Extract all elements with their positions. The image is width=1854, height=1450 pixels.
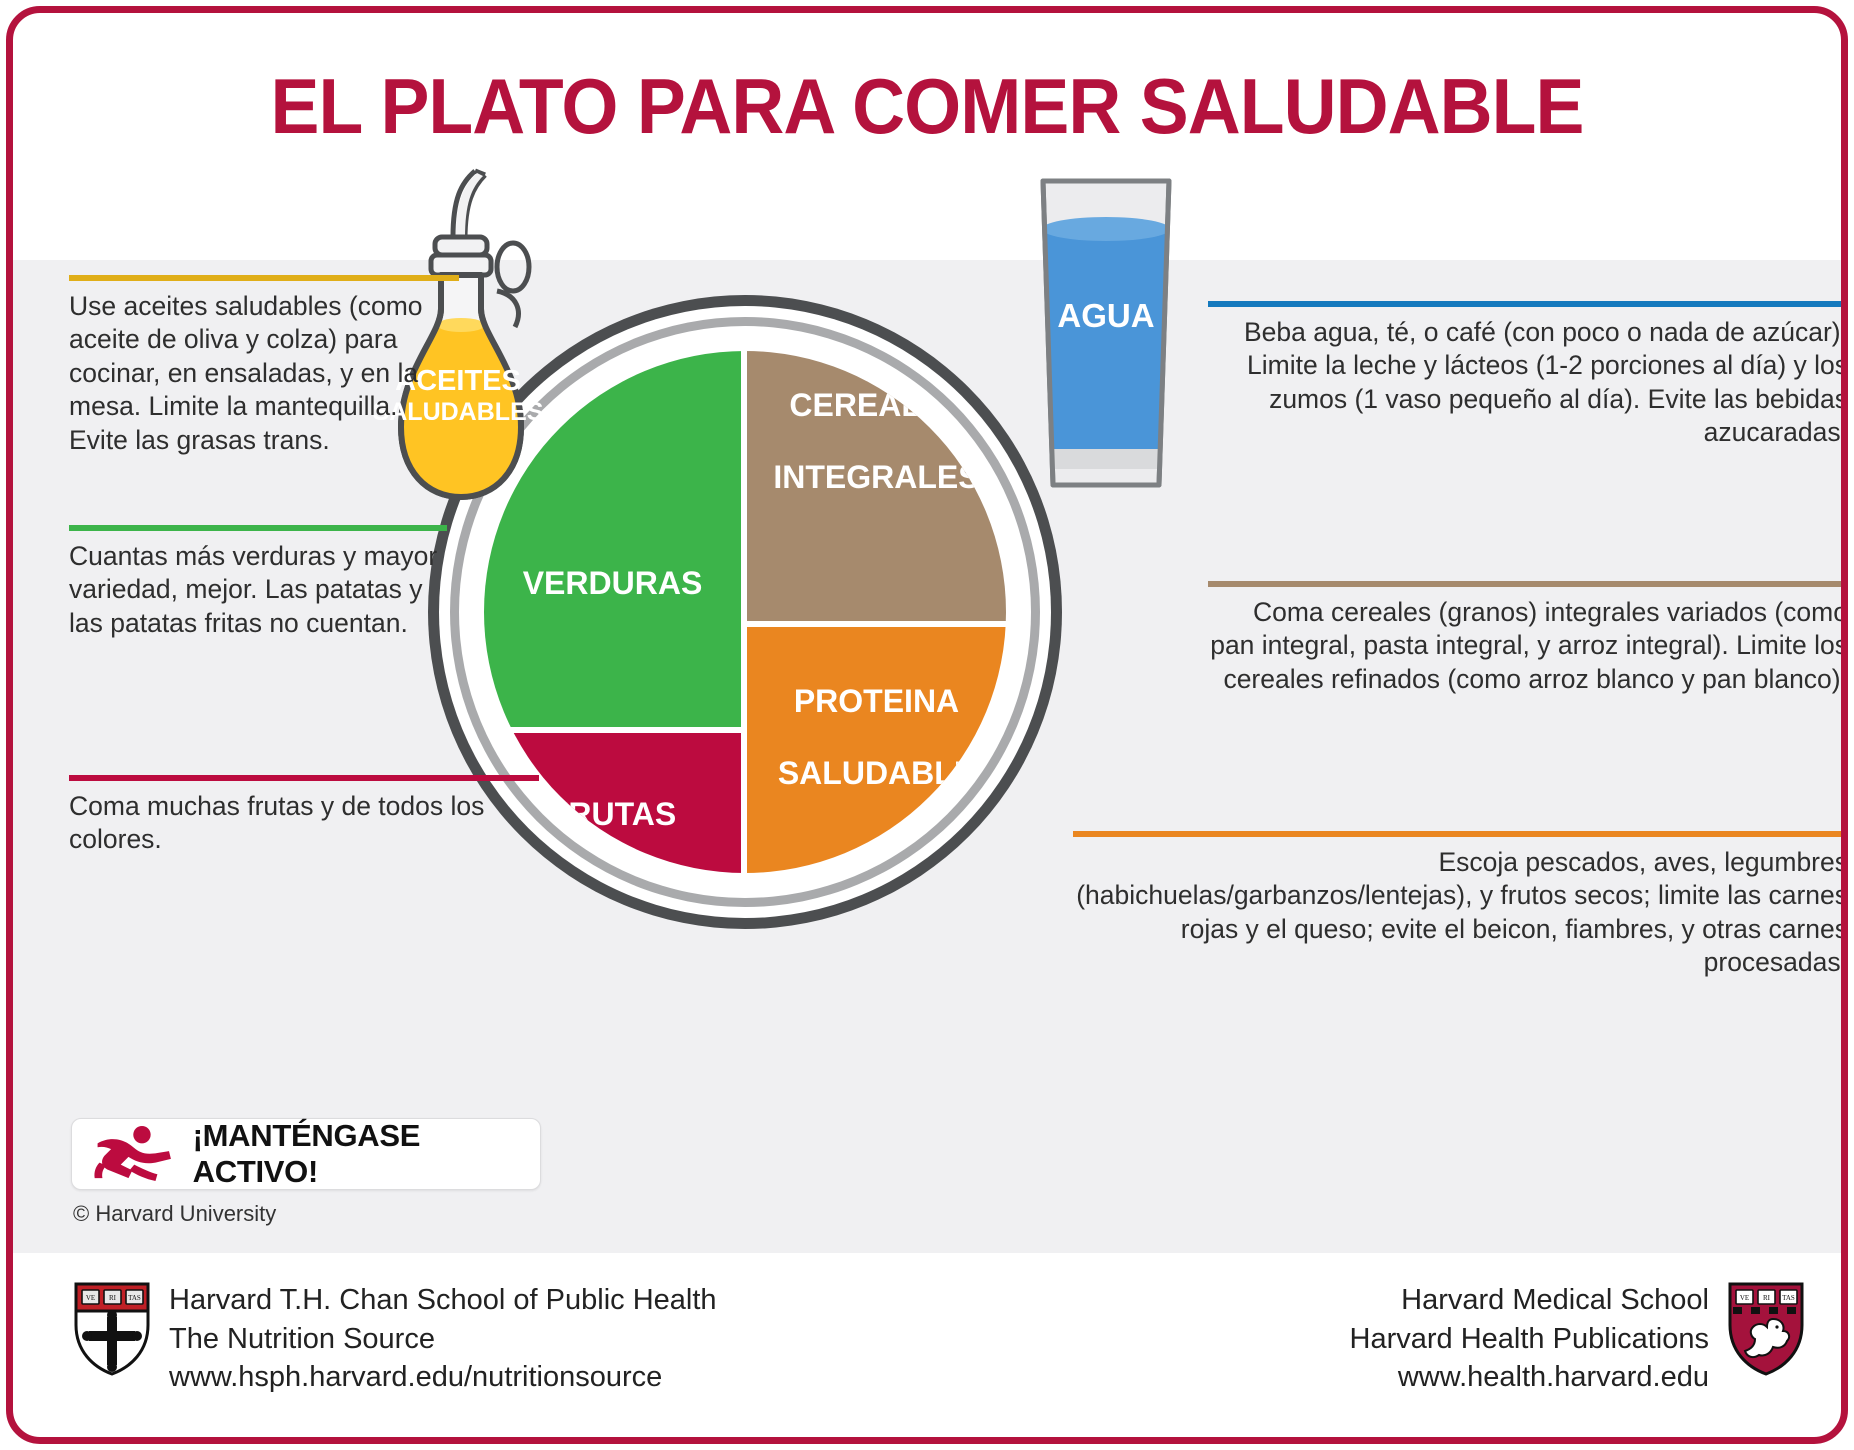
- harvard-hsph-shield-icon: VE RI TAS: [73, 1281, 151, 1377]
- quadrant-label-vegetables: VERDURAS: [523, 566, 703, 602]
- svg-text:TAS: TAS: [1782, 1294, 1795, 1302]
- footer-hms: Harvard Medical School Harvard Health Pu…: [1133, 1281, 1805, 1397]
- footer-hms-line1: Harvard Medical School: [1350, 1281, 1709, 1320]
- footer-hms-line3[interactable]: www.health.harvard.edu: [1350, 1358, 1709, 1397]
- stay-active-label: ¡MANTÉNGASE ACTIVO!: [193, 1118, 540, 1190]
- quadrant-label-protein-line1: PROTEINA: [778, 684, 975, 720]
- stay-active-badge[interactable]: ¡MANTÉNGASE ACTIVO!: [71, 1118, 541, 1190]
- footer-hsph-line2: The Nutrition Source: [169, 1320, 717, 1359]
- callout-text-protein: Escoja pescados, aves, legumbres (habich…: [1073, 837, 1848, 980]
- copyright-notice: © Harvard University: [73, 1201, 276, 1227]
- callout-fruits: Coma muchas frutas y de todos los colore…: [69, 775, 539, 857]
- callout-text-vegetables: Cuantas más verduras y mayor variedad, m…: [69, 531, 447, 640]
- quadrant-label-grains-line1: CEREALES: [773, 388, 979, 424]
- harvard-hms-shield-icon: VE RI TAS: [1727, 1281, 1805, 1377]
- quadrant-label-fruits: FRUTAS: [549, 797, 676, 833]
- callout-protein: Escoja pescados, aves, legumbres (habich…: [1073, 831, 1848, 980]
- quadrant-label-protein-line2: SALUDABLE: [778, 756, 975, 792]
- svg-text:RI: RI: [109, 1294, 117, 1302]
- footer-hsph-line3[interactable]: www.hsph.harvard.edu/nutritionsource: [169, 1358, 717, 1397]
- quadrant-label-protein: PROTEINA SALUDABLE: [778, 690, 975, 797]
- quadrant-label-grains: CEREALES INTEGRALES: [773, 410, 979, 517]
- footer-hms-line2: Harvard Health Publications: [1350, 1320, 1709, 1359]
- footer-hsph: VE RI TAS Harvard T.H. Chan School of Pu…: [73, 1281, 717, 1397]
- callout-water: Beba agua, té, o café (con poco o nada d…: [1208, 301, 1848, 450]
- callout-grains: Coma cereales (granos) integrales variad…: [1208, 581, 1848, 696]
- water-glass-label: AGUA: [1021, 297, 1191, 335]
- callout-text-oils: Use aceites saludables (como aceite de o…: [69, 281, 459, 457]
- footer-hsph-text: Harvard T.H. Chan School of Public Healt…: [169, 1281, 717, 1397]
- plate-quadrants: VERDURAS FRUTAS CEREALES INTEGRALES PROT…: [484, 351, 1006, 873]
- callout-oils: Use aceites saludables (como aceite de o…: [69, 275, 459, 457]
- callout-text-fruits: Coma muchas frutas y de todos los colore…: [69, 781, 539, 857]
- svg-text:TAS: TAS: [128, 1294, 141, 1302]
- page-title: EL PLATO PARA COMER SALUDABLE: [68, 61, 1786, 152]
- plate-quadrant-protein[interactable]: PROTEINA SALUDABLE: [747, 627, 1006, 873]
- poster-frame: EL PLATO PARA COMER SALUDABLE VERDURAS F…: [6, 6, 1848, 1444]
- footer-hms-text: Harvard Medical School Harvard Health Pu…: [1350, 1281, 1709, 1397]
- quadrant-label-grains-line2: INTEGRALES: [773, 460, 979, 496]
- callout-text-water: Beba agua, té, o café (con poco o nada d…: [1208, 307, 1848, 450]
- svg-text:RI: RI: [1763, 1294, 1771, 1302]
- callout-text-grains: Coma cereales (granos) integrales variad…: [1208, 587, 1848, 696]
- running-person-icon: [86, 1125, 179, 1183]
- svg-text:VE: VE: [1740, 1294, 1749, 1302]
- footer-hsph-line1: Harvard T.H. Chan School of Public Healt…: [169, 1281, 717, 1320]
- plate-quadrant-grains[interactable]: CEREALES INTEGRALES: [747, 351, 1006, 621]
- callout-vegetables: Cuantas más verduras y mayor variedad, m…: [69, 525, 447, 640]
- svg-text:VE: VE: [86, 1294, 95, 1302]
